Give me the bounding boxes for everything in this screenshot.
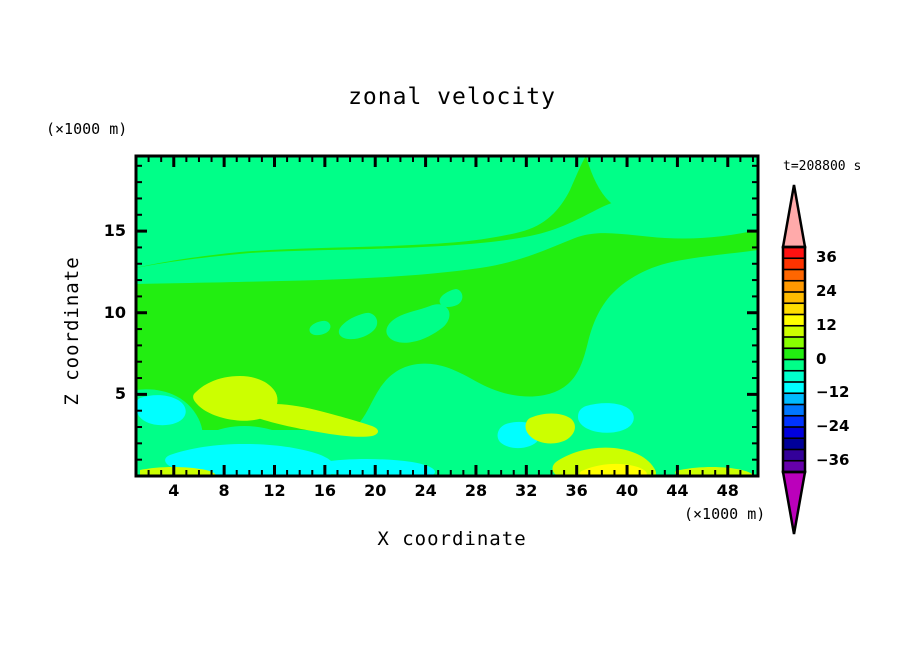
x-tick-label: 28 — [456, 481, 496, 500]
x-tick-label: 8 — [204, 481, 244, 500]
colorbar-tick-label: −36 — [816, 451, 849, 469]
colorbar-band — [783, 438, 805, 450]
colorbar-band — [783, 382, 805, 394]
x-tick-label: 4 — [154, 481, 194, 500]
colorbar-band — [783, 450, 805, 462]
colorbar-tick-label: 0 — [816, 350, 826, 368]
x-tick-label: 12 — [255, 481, 295, 500]
colorbar-band — [783, 292, 805, 304]
colorbar-band — [783, 326, 805, 338]
x-tick-label: 40 — [607, 481, 647, 500]
colorbar-tick-label: −12 — [816, 383, 849, 401]
colorbar-band — [783, 371, 805, 383]
plot-area — [0, 0, 904, 654]
colorbar-tick-label: 36 — [816, 248, 837, 266]
colorbar-band — [783, 405, 805, 417]
x-tick-label: 48 — [708, 481, 748, 500]
colorbar-band — [783, 270, 805, 282]
colorbar-band — [783, 393, 805, 405]
colorbar-band — [783, 348, 805, 360]
colorbar-bands — [783, 247, 805, 473]
x-tick-label: 44 — [657, 481, 697, 500]
colorbar-band — [783, 427, 805, 439]
x-tick-label: 16 — [305, 481, 345, 500]
colorbar-band — [783, 360, 805, 372]
colorbar-top-cap — [783, 185, 805, 247]
y-tick-label: 15 — [86, 221, 126, 240]
colorbar-tick-label: 12 — [816, 316, 837, 334]
x-tick-label: 24 — [406, 481, 446, 500]
colorbar-band — [783, 315, 805, 327]
colorbar-band — [783, 281, 805, 293]
colorbar-band — [783, 416, 805, 428]
colorbar-band — [783, 258, 805, 270]
contour-field — [136, 156, 758, 477]
colorbar-tick-label: 24 — [816, 282, 837, 300]
x-tick-label: 36 — [557, 481, 597, 500]
x-tick-label: 32 — [506, 481, 546, 500]
x-tick-label: 20 — [355, 481, 395, 500]
colorbar-band — [783, 247, 805, 259]
colorbar-band — [783, 303, 805, 315]
y-tick-label: 5 — [86, 384, 126, 403]
colorbar[interactable] — [783, 185, 805, 534]
figure-canvas: zonal velocity (×1000 m) (×1000 m) X coo… — [0, 0, 904, 654]
colorbar-bottom-cap — [783, 472, 805, 534]
colorbar-tick-label: −24 — [816, 417, 849, 435]
y-tick-label: 10 — [86, 303, 126, 322]
colorbar-band — [783, 337, 805, 349]
